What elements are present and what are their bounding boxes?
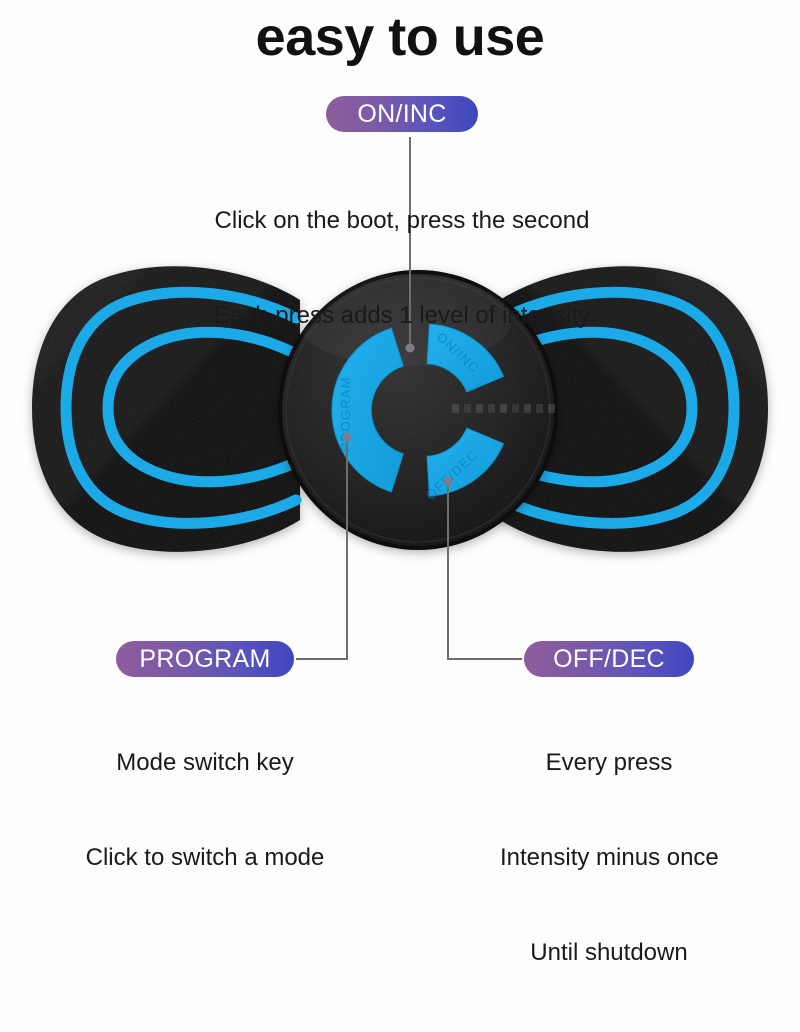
badge-off-dec[interactable]: OFF/DEC: [524, 641, 694, 677]
description-on-inc-line-1: Click on the boot, press the second: [160, 205, 644, 237]
description-off-dec-line-1: Every press: [500, 747, 718, 779]
description-program: Mode switch key Click to switch a mode: [80, 684, 330, 937]
description-off-dec-line-3: Until shutdown: [500, 937, 718, 969]
description-program-line-2: Click to switch a mode: [80, 842, 330, 874]
infographic-canvas: easy to use: [0, 0, 800, 800]
description-off-dec: Every press Intensity minus once Until s…: [500, 684, 718, 1032]
description-off-dec-line-2: Intensity minus once: [500, 842, 718, 874]
badge-on-inc[interactable]: ON/INC: [326, 96, 478, 132]
led-indicator-strip: [452, 404, 555, 413]
description-on-inc-line-2: Each press adds 1 level of intensity: [160, 300, 644, 332]
description-program-line-1: Mode switch key: [80, 747, 330, 779]
description-on-inc: Click on the boot, press the second Each…: [160, 142, 644, 395]
badge-program[interactable]: PROGRAM: [116, 641, 294, 677]
